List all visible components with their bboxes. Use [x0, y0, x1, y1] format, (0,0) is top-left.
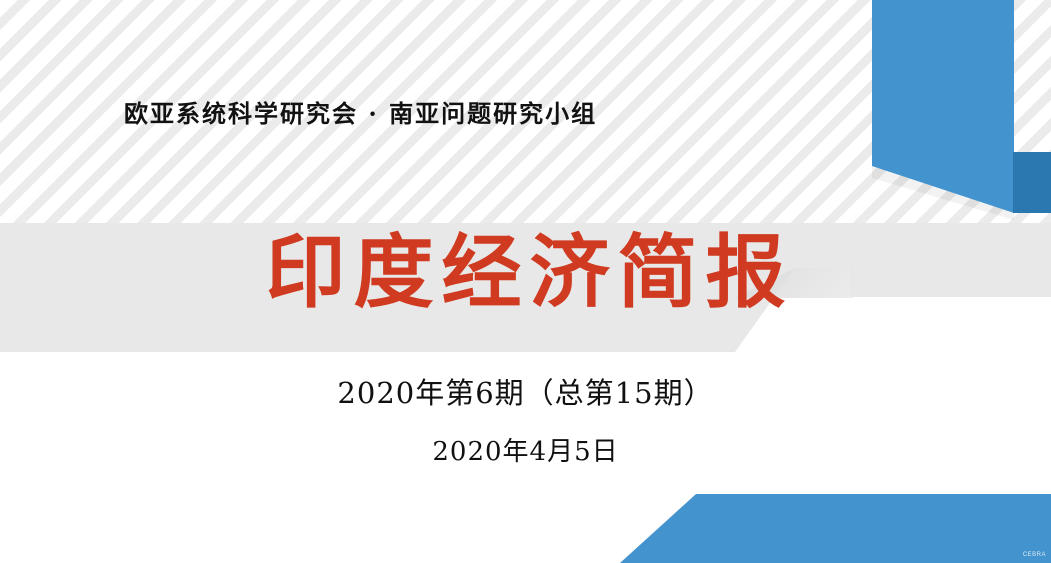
issue-number-line: 2020年第6期（总第15期） [0, 370, 1051, 412]
top-right-blue-accent-block [1013, 152, 1051, 213]
publication-date-line: 2020年4月5日 [0, 431, 1051, 468]
bottom-right-blue-banner-shape: CEBRA [620, 494, 1051, 563]
watermark-label: CEBRA [1023, 552, 1046, 558]
presentation-cover-slide: CEBRA 欧亚系统科学研究会 · 南亚问题研究小组 印度经济简报 2020年第… [0, 0, 1051, 563]
page-title: 印度经济简报 [0, 228, 1051, 318]
organization-line: 欧亚系统科学研究会 · 南亚问题研究小组 [124, 94, 597, 129]
